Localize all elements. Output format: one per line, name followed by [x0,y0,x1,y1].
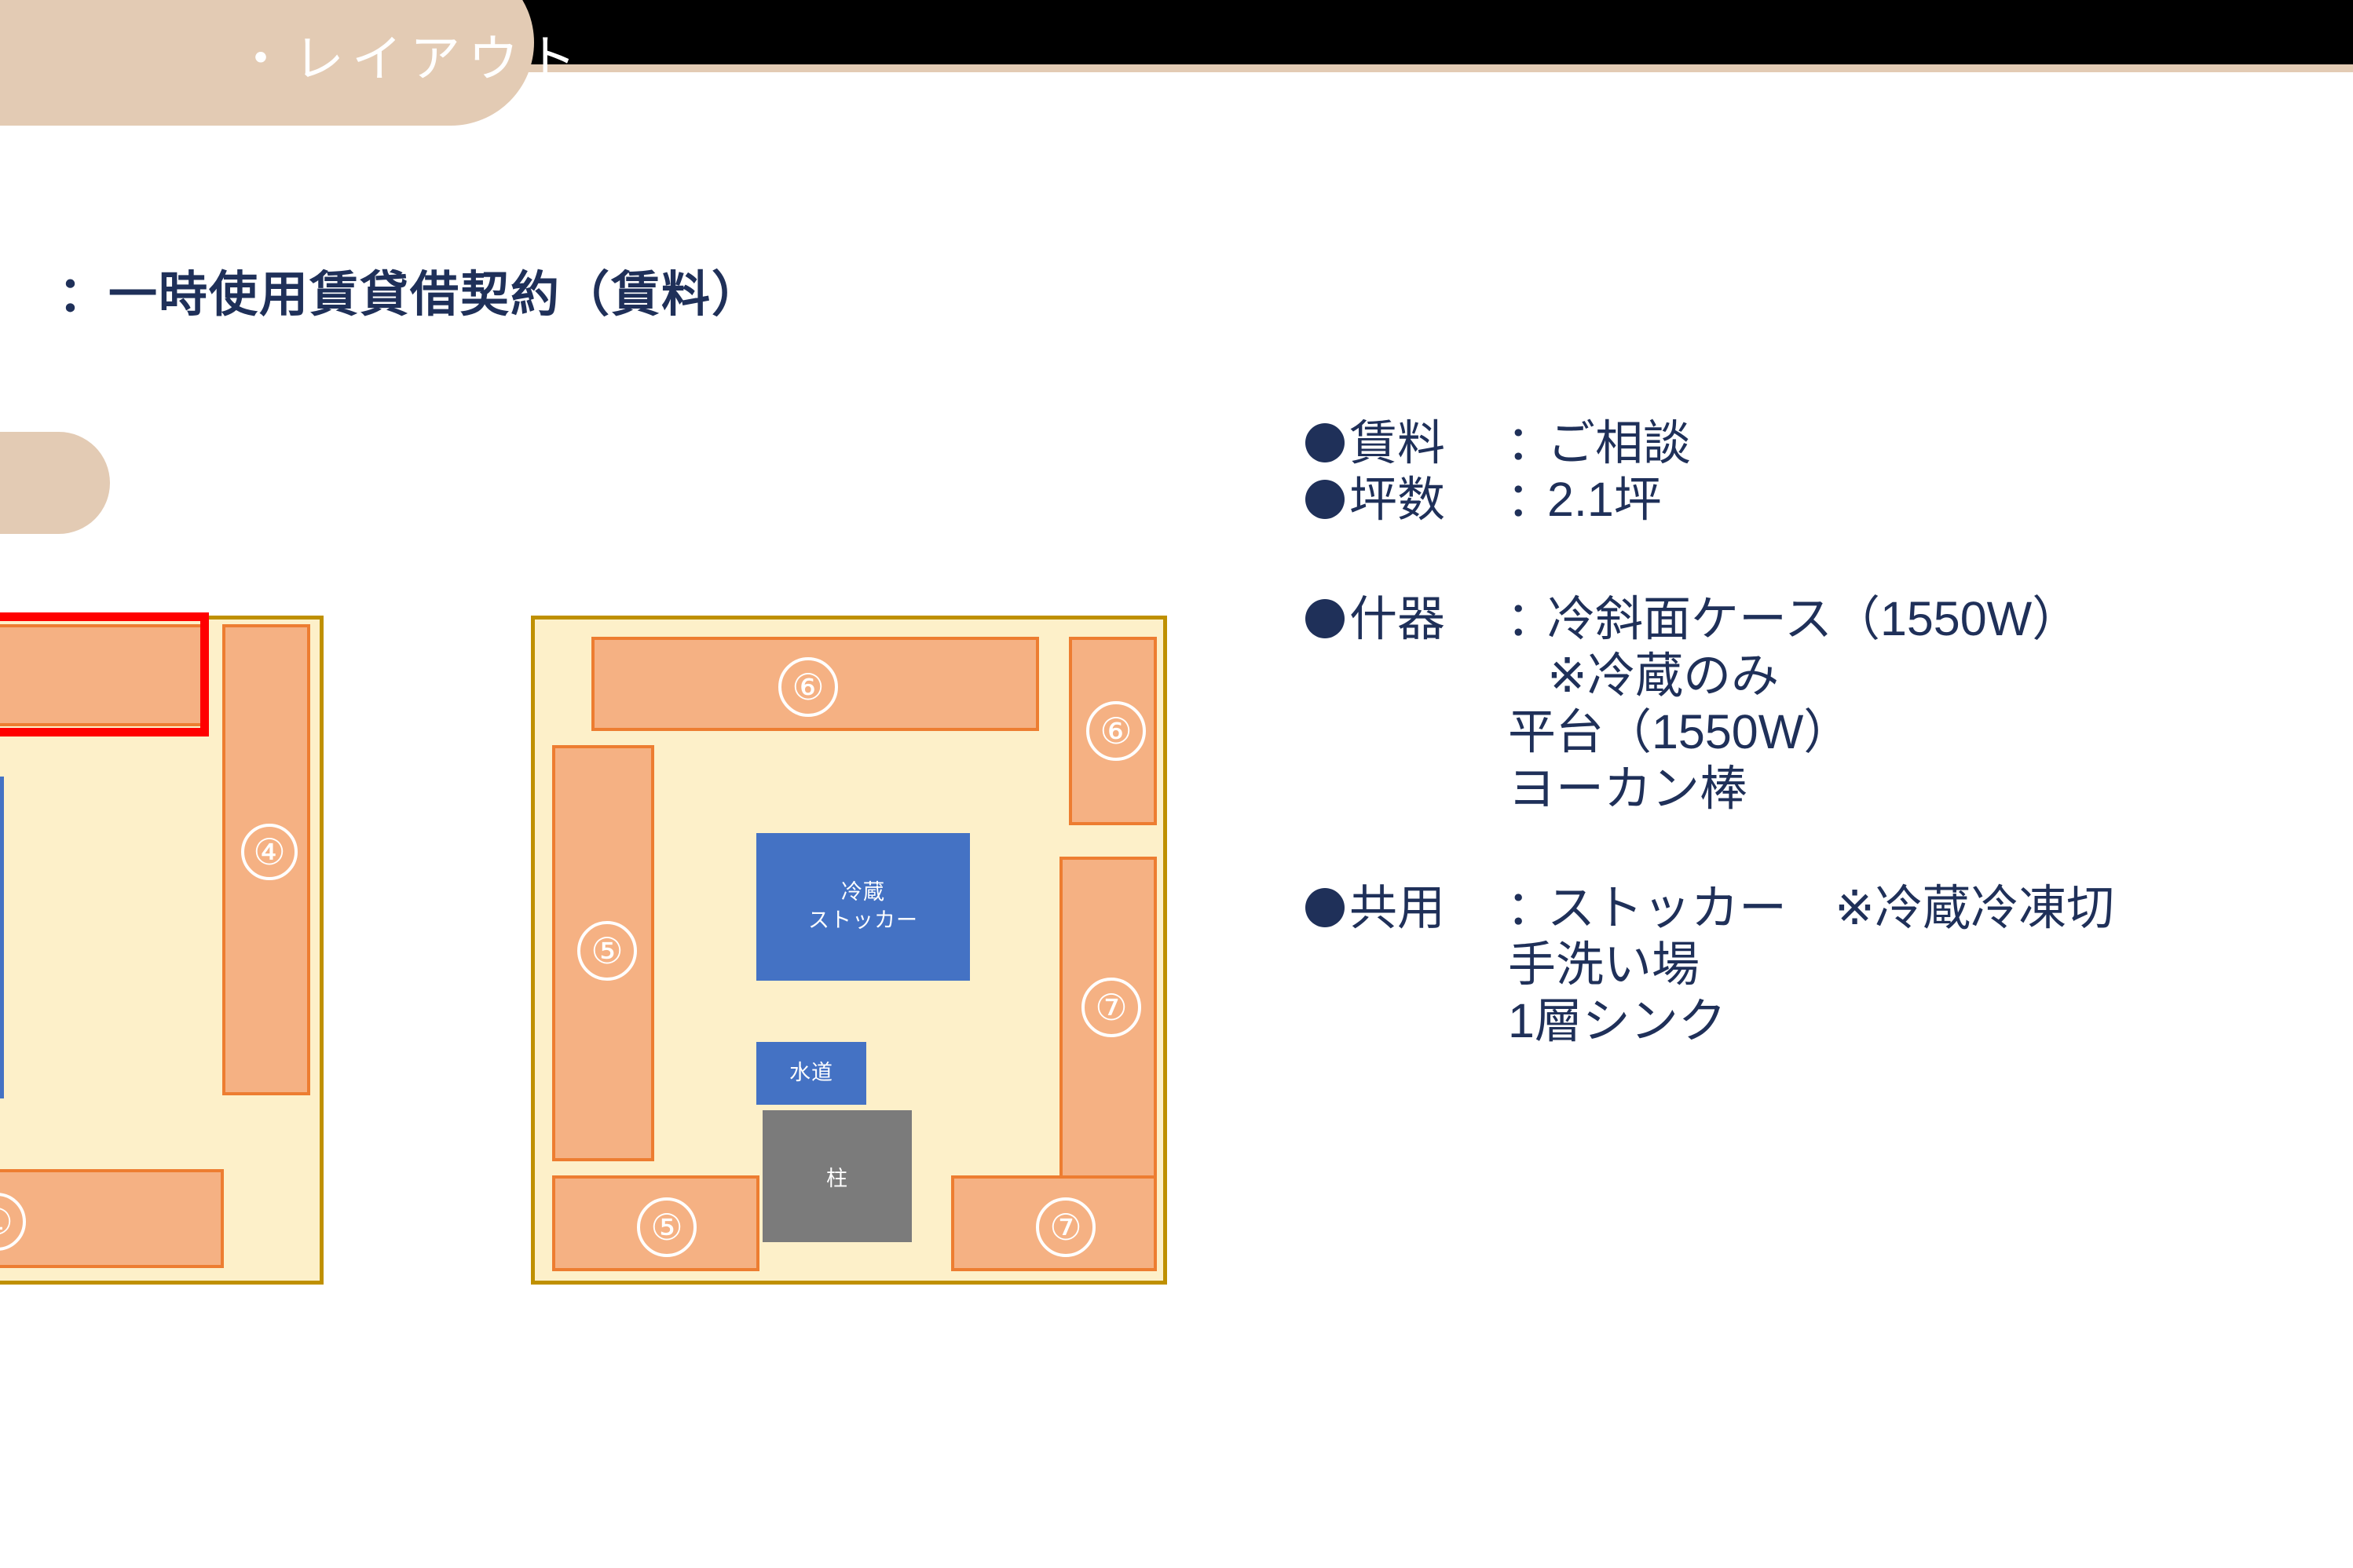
cooler-right-label-2: ストッカー [808,907,918,935]
detail-value-area: 2.1坪 [1547,471,1662,528]
detail-key-rent: 賃料 [1349,415,1506,471]
pillar-right: 柱 [763,1110,912,1242]
spacer [1305,528,2353,590]
floorplan-right: ⑥ ⑥ ⑤ ⑦ ⑤ ⑦ 冷蔵 ストッカー 水道 柱 [531,616,1167,1285]
bullet-icon [1305,480,1345,519]
detail-sub-shared-2: 1層シンク [1305,992,2353,1049]
header-tab-label: ・レイアウト [236,19,584,91]
bullet-icon [1305,599,1345,638]
red-highlight-rectangle [0,612,209,736]
bullet-icon [1305,888,1345,927]
cooler-right: 冷蔵 ストッカー [756,833,970,981]
badge-right-5b: ⑤ [637,1197,697,1257]
shelf-right-right-7: ⑦ [1059,857,1157,1186]
detail-row-shared: 共用 ： ストッカー ※冷蔵冷凍切 [1305,879,2353,936]
detail-value-shared: ストッカー ※冷蔵冷凍切 [1547,879,2114,936]
shelf-left-bottom-1: ① [0,1169,224,1268]
shelf-right-bottom-7: ⑦ [951,1175,1157,1271]
detail-key-shared: 共用 [1349,879,1506,936]
badge-right-7a: ⑦ [1081,978,1141,1037]
detail-sep-shared: ： [1506,879,1547,936]
badge-left-4: ④ [241,824,298,880]
shelf-right-top-6: ⑥ [591,637,1039,731]
detail-sep-rent: ： [1506,415,1547,471]
badge-right-6b: ⑥ [1086,701,1146,761]
top-black-bar [503,0,2353,64]
shelf-left-right-4: ④ [222,624,310,1095]
shelf-right-bottom-5: ⑤ [552,1175,759,1271]
detail-sub-fixtures-3: ヨーカン棒 [1305,760,2353,817]
detail-sub-fixtures-2: 平台（1550W） [1305,704,2353,760]
spacer [1305,817,2353,879]
badge-right-7b: ⑦ [1036,1197,1096,1257]
badge-right-6a: ⑥ [778,657,838,717]
shelf-right-upper-6: ⑥ [1069,637,1157,825]
detail-row-area: 坪数 ： 2.1坪 [1305,471,2353,528]
detail-row-rent: 賃料 ： ご相談 [1305,415,2353,471]
details-panel: 賃料 ： ご相談 坪数 ： 2.1坪 什器 ： 冷斜面ケース（1550W） ※冷… [1305,415,2353,1049]
side-accent-pill [0,432,110,534]
detail-sep-fixtures: ： [1506,590,1547,647]
detail-sep-area: ： [1506,471,1547,528]
pillar-right-label: 柱 [826,1161,848,1192]
cooler-left: 冷蔵 ストッカー 水道 [0,777,4,1098]
water-right-label: 水道 [789,1059,833,1087]
page-title: ：一時使用賃貸借契約（賃料） [58,254,762,325]
shelf-right-left-5: ⑤ [552,745,654,1161]
bullet-icon [1305,423,1345,462]
detail-row-fixtures: 什器 ： 冷斜面ケース（1550W） [1305,590,2353,647]
water-right: 水道 [756,1042,866,1105]
cooler-right-label-1: 冷蔵 [841,879,885,907]
detail-key-fixtures: 什器 [1349,590,1506,647]
badge-right-5a: ⑤ [577,921,637,981]
detail-sub-fixtures-1: ※冷蔵のみ [1305,647,2353,704]
badge-left-1: ① [0,1193,26,1251]
detail-value-fixtures: 冷斜面ケース（1550W） [1547,590,2080,647]
detail-key-area: 坪数 [1349,471,1506,528]
top-beige-rule [503,64,2353,72]
detail-sub-shared-1: 手洗い場 [1305,936,2353,992]
detail-value-rent: ご相談 [1547,415,1691,471]
